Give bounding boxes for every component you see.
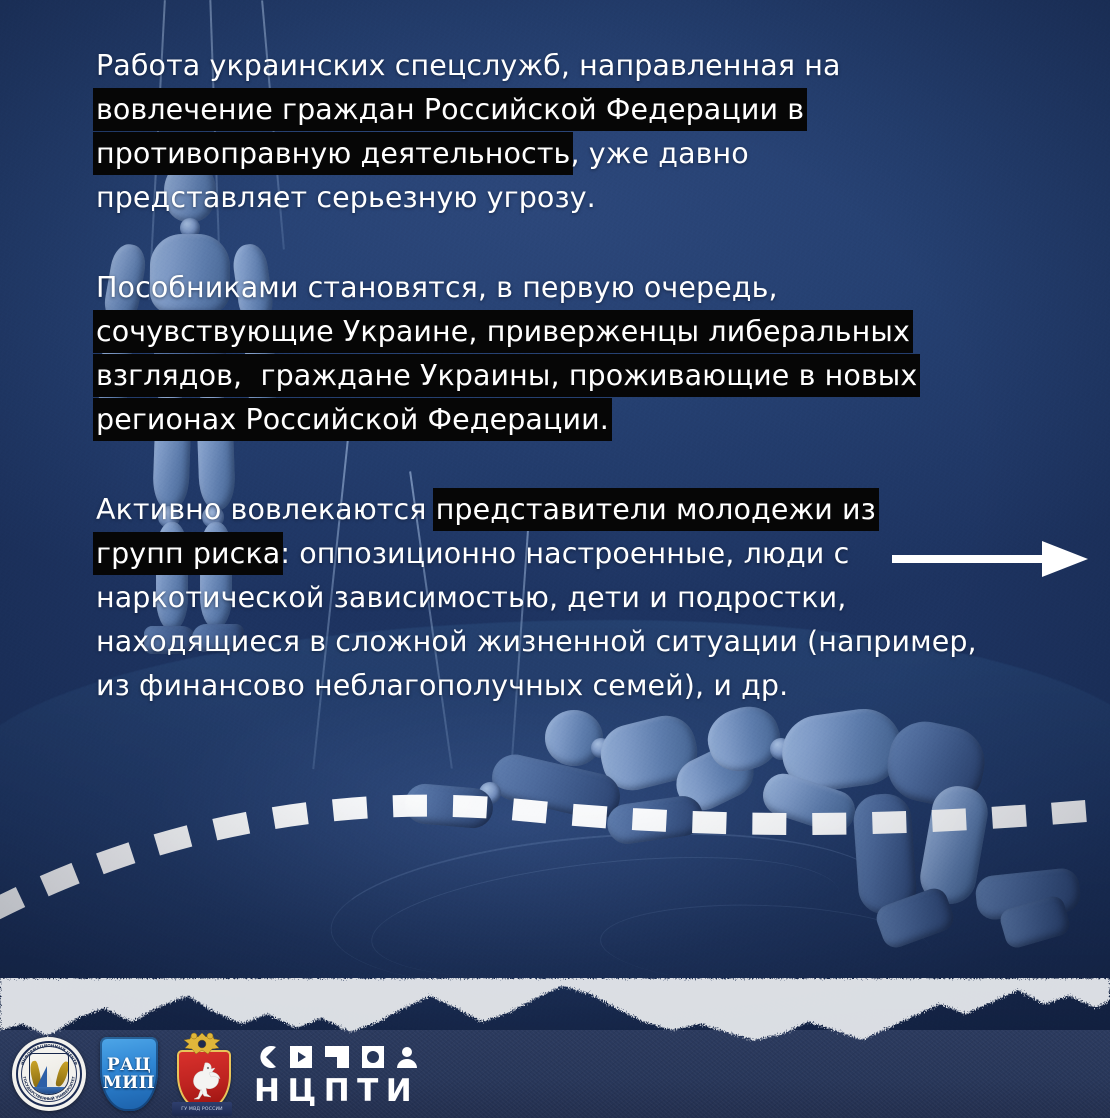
footer-logos: ИНФОРМАЦИОННЫЙ ЦЕНТР ГОСУДАРСТВЕННЫЙ УНИ… bbox=[12, 1030, 419, 1118]
sailboat-icon bbox=[36, 1066, 47, 1088]
rac-mip-shield-logo[interactable]: РАЦ МИП bbox=[100, 1037, 158, 1111]
paragraph-3: Активно вовлекаются представители молоде… bbox=[96, 488, 1036, 708]
university-seal-logo[interactable]: ИНФОРМАЦИОННЫЙ ЦЕНТР ГОСУДАРСТВЕННЫЙ УНИ… bbox=[12, 1037, 86, 1111]
text-line: вовлечение граждан Российской Федерации … bbox=[96, 88, 1036, 132]
red-shield bbox=[177, 1050, 231, 1110]
next-arrow-icon[interactable] bbox=[892, 537, 1092, 581]
circle-square-icon bbox=[361, 1045, 385, 1069]
text-line: представляет серьезную угрозу. bbox=[96, 176, 1036, 220]
text-line: взглядов, граждане Украины, проживающие … bbox=[96, 354, 1036, 398]
shield-line-2: МИП bbox=[103, 1075, 155, 1092]
body-text: Работа украинских спецслужб, направленна… bbox=[96, 44, 1036, 708]
wave-icon bbox=[30, 1087, 68, 1094]
pacman-icon bbox=[254, 1045, 278, 1069]
text-line: наркотической зависимостью, дети и подро… bbox=[96, 576, 1036, 620]
ncpti-logo[interactable]: НЦПТИ bbox=[254, 1043, 419, 1106]
text-line: Пособниками становятся, в первую очередь… bbox=[96, 266, 1036, 310]
wheat-sheaf-icon bbox=[55, 1060, 69, 1087]
text-line: находящиеся в сложной жизненной ситуации… bbox=[96, 620, 1036, 664]
text-line: из финансово неблагополучных семей), и д… bbox=[96, 664, 1036, 708]
text-line: регионах Российской Федерации. bbox=[96, 398, 1036, 442]
arms-ribbon: ГУ МВД РОССИИ bbox=[172, 1102, 232, 1116]
step-block-icon bbox=[324, 1045, 350, 1069]
person-icon bbox=[396, 1045, 418, 1069]
fallen-marionette bbox=[690, 690, 1110, 960]
text-line: Работа украинских спецслужб, направленна… bbox=[96, 44, 1036, 88]
text-line: противоправную деятельность, уже давно bbox=[96, 132, 1036, 176]
double-headed-eagle-icon bbox=[179, 1030, 225, 1056]
ministry-coat-of-arms-logo[interactable]: ГУ МВД РОССИИ bbox=[172, 1032, 232, 1116]
griffin-icon bbox=[185, 1059, 223, 1101]
arms-ribbon-text: ГУ МВД РОССИИ bbox=[181, 1107, 223, 1112]
paragraph-1: Работа украинских спецслужб, направленна… bbox=[96, 44, 1036, 220]
ncpti-glyph-row bbox=[254, 1043, 419, 1069]
seal-crest bbox=[29, 1053, 69, 1095]
poster: Работа украинских спецслужб, направленна… bbox=[0, 0, 1110, 1118]
text-line: сочувствующие Украине, приверженцы либер… bbox=[96, 310, 1036, 354]
ncpti-wordmark: НЦПТИ bbox=[254, 1076, 419, 1106]
play-square-icon bbox=[289, 1045, 313, 1069]
shield-line-1: РАЦ bbox=[107, 1057, 151, 1074]
paragraph-2: Пособниками становятся, в первую очередь… bbox=[96, 266, 1036, 442]
sailboat-icon bbox=[47, 1070, 55, 1088]
text-line: Активно вовлекаются представители молоде… bbox=[96, 488, 1036, 532]
